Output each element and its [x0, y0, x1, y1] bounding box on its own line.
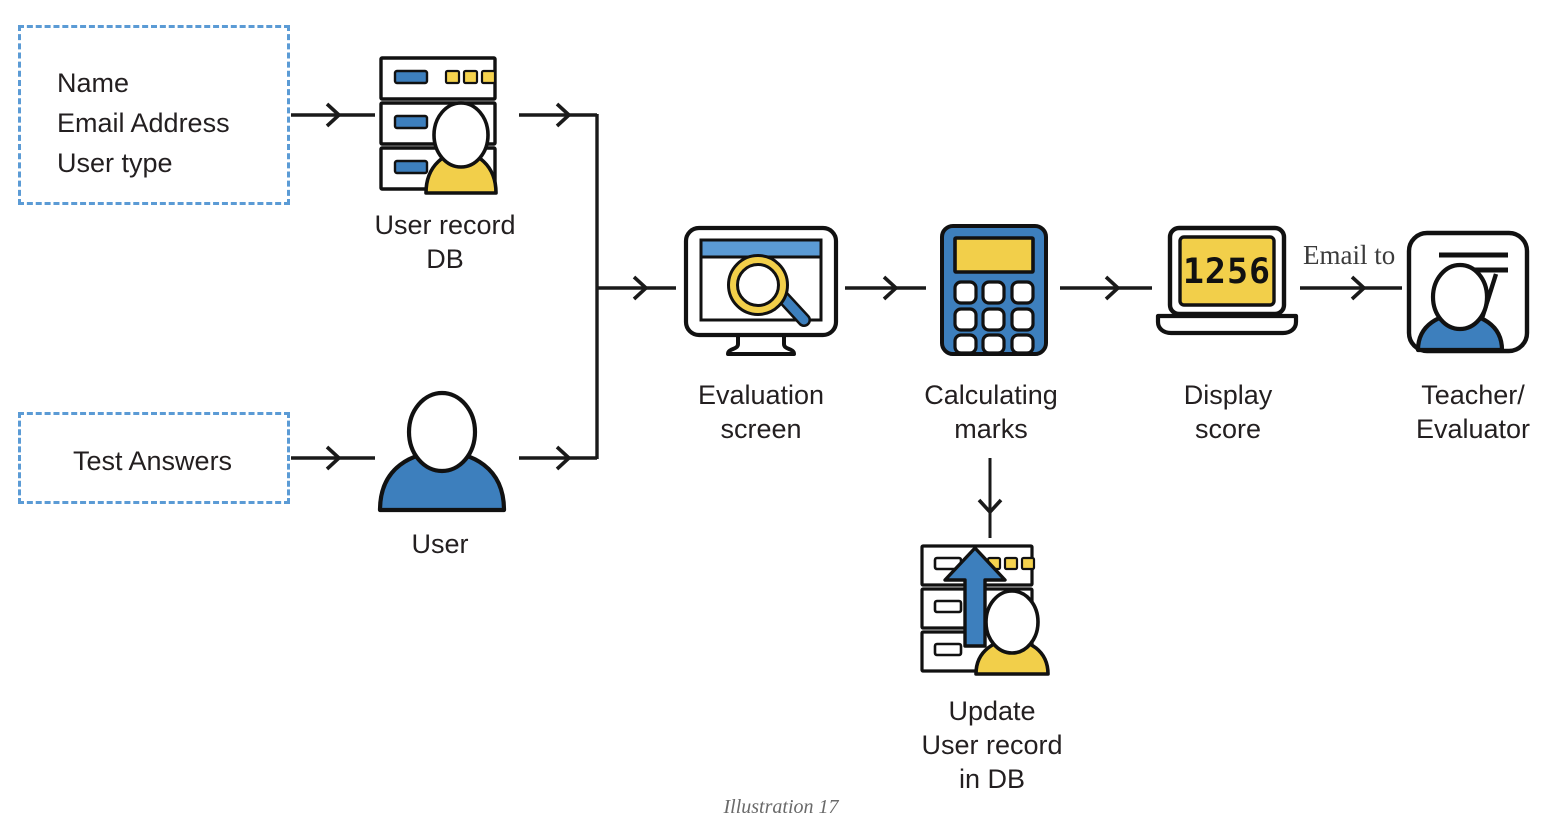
label-update-user-record: Update User record in DB — [892, 694, 1092, 796]
calculator-icon — [936, 222, 1052, 358]
label-user: User — [360, 527, 520, 561]
display-score-value: 1256 — [1183, 252, 1271, 292]
figure-caption: Illustration 17 — [0, 796, 1562, 819]
teacher-board-icon — [1404, 228, 1532, 356]
edge-label-email-to: Email to — [1303, 240, 1395, 271]
edge-calc-to-display — [1060, 277, 1152, 299]
edge-user-to-merge — [519, 447, 597, 469]
diagram-canvas: Name Email Address User type Test Answer… — [0, 0, 1562, 838]
label-teacher-evaluator: Teacher/ Evaluator — [1384, 378, 1562, 446]
edge-attributes-to-db — [291, 104, 375, 126]
edge-testanswers-to-user — [291, 447, 375, 469]
database-upload-icon — [914, 542, 1072, 682]
label-evaluation-screen: Evaluation screen — [668, 378, 854, 446]
label-calculating-marks: Calculating marks — [898, 378, 1084, 446]
label-display-score: Display score — [1140, 378, 1316, 446]
laptop-score-icon: 1256 — [1152, 226, 1302, 336]
edge-evaluation-to-calc — [845, 277, 926, 299]
monitor-magnifier-icon — [676, 222, 846, 362]
database-server-user-icon — [370, 52, 520, 200]
edge-merge-to-evaluation — [597, 277, 676, 299]
edge-display-to-teacher — [1300, 277, 1402, 299]
user-avatar-icon — [372, 390, 512, 520]
edge-db-to-merge — [519, 104, 597, 126]
label-user-record-db: User record DB — [336, 208, 554, 276]
edge-calc-to-update-db — [979, 458, 1001, 538]
